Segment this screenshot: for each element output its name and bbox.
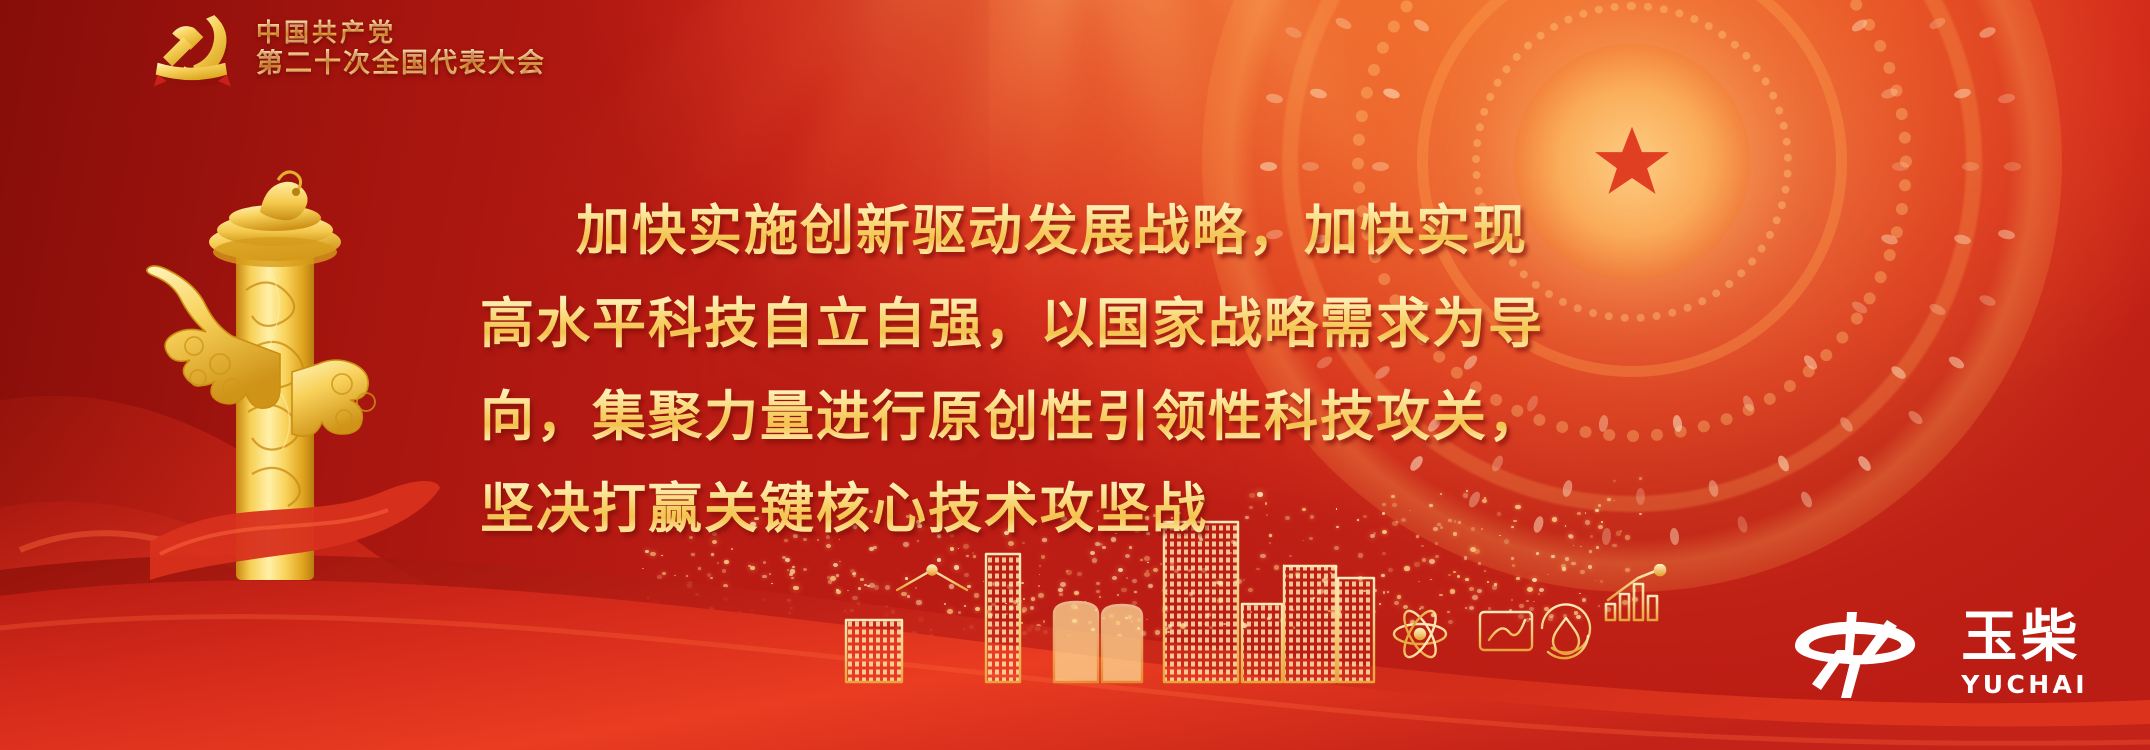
- mandala-dot: [1928, 302, 1947, 317]
- mandala-dot: [1302, 162, 1319, 171]
- mandala-dot: [1850, 18, 1869, 35]
- slogan-line-3: 向，集聚力量进行原创性引领性科技攻关，: [480, 378, 1710, 457]
- huabiao-pillar: [120, 150, 440, 580]
- hammer-and-sickle-emblem-icon: [150, 6, 242, 92]
- mandala-dot: [1266, 92, 1284, 104]
- mandala-dot: [1978, 294, 1997, 309]
- mandala-dot: [1309, 87, 1328, 100]
- mandala-dot: [1382, 87, 1401, 100]
- yuchai-swoosh-mark-icon: [1791, 606, 1941, 702]
- slogan-line-1: 加快实施创新驱动发展战略，加快实现: [480, 192, 1710, 271]
- mandala-dot: [1850, 299, 1869, 316]
- mandala-dot: [1953, 87, 1972, 100]
- congress-title-line2: 第二十次全国代表大会: [256, 49, 546, 79]
- mandala-dot: [1889, 363, 1908, 381]
- mandala-dot: [1962, 162, 1979, 171]
- mandala-dot: [1953, 234, 1972, 247]
- mandala-dot: [1947, 354, 1966, 371]
- mandala-dot: [1881, 87, 1900, 100]
- mandala-dot: [1260, 162, 1277, 171]
- mandala-dot: [1881, 233, 1900, 246]
- mandala-dot: [1284, 25, 1303, 40]
- slogan-line-2: 高水平科技自立自强，以国家战略需求为导: [480, 285, 1710, 364]
- yuchai-name-cn: 玉柴: [1961, 610, 2081, 666]
- mandala-dot: [1412, 18, 1431, 35]
- mandala-dot: [1334, 16, 1353, 31]
- mandala-dot: [1372, 162, 1389, 171]
- slogan-line-4: 坚决打赢关键核心技术攻坚战: [480, 470, 1710, 549]
- congress-title-line1: 中国共产党: [256, 19, 546, 47]
- growth-chart-icon: [1598, 564, 1670, 630]
- mandala-dot: [1978, 25, 1997, 40]
- mandala-dot: [1802, 354, 1820, 373]
- yuchai-logo: 玉柴 YUCHAI: [1791, 606, 2088, 702]
- yuchai-name-en: YUCHAI: [1961, 670, 2088, 699]
- mandala-dot: [1892, 162, 1909, 171]
- mandala-dot: [2004, 162, 2021, 171]
- congress-header: 中国共产党 第二十次全国代表大会: [150, 6, 546, 92]
- mandala-dot: [1928, 16, 1947, 31]
- mandala-dot: [1741, 393, 1756, 412]
- slogan-block: 加快实施创新驱动发展战略，加快实现 高水平科技自立自强，以国家战略需求为导 向，…: [480, 192, 1710, 563]
- congress-banner: 中国共产党 第二十次全国代表大会 加快实施创新驱动发展战略，加快实现 高水平科技…: [0, 0, 2150, 750]
